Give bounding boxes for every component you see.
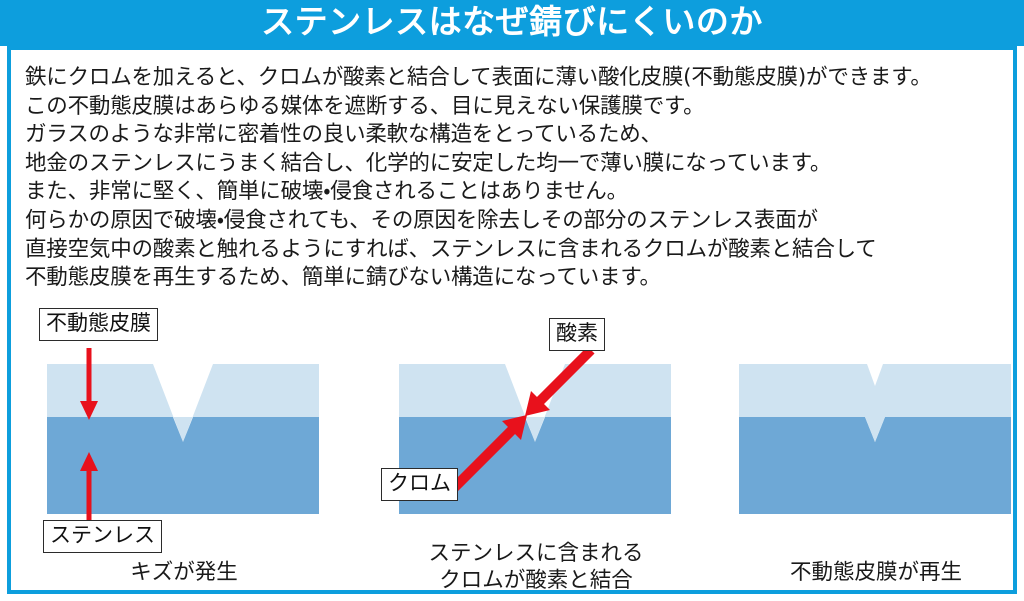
infographic-page: ステンレスはなぜ錆びにくいのか 鉄にクロムを加えると、クロムが酸素と結合して表面… xyxy=(0,0,1024,601)
body-line-2: この不動態皮膜はあらゆる媒体を遮断する、目に見えない保護膜です。 xyxy=(25,93,1005,122)
label-stainless-steel-text: ステンレス xyxy=(50,523,155,547)
body-line-7: 直接空気中の酸素と触れるようにすれば、ステンレスに含まれるクロムが酸素と結合して xyxy=(25,236,1005,265)
material-cross-section-regenerated xyxy=(739,364,1011,514)
body-line-4: 地金のステンレスにうまく結合し、化学的に安定した均一で薄い膜になっています。 xyxy=(25,150,1005,179)
body-line-8: 不動態皮膜を再生するため、簡単に錆びない構造になっています。 xyxy=(25,264,1005,293)
body-line-3: ガラスのような非常に密着性の良い柔軟な構造をとっているため、 xyxy=(25,121,1005,150)
label-stainless-steel: ステンレス xyxy=(43,520,162,553)
panel-scratch: 不動態皮膜 ステンレス キズが発生 xyxy=(29,308,339,594)
body-line-5: また、非常に堅く、簡単に破壊・侵食されることはありません。 xyxy=(25,178,1005,207)
content-frame: 鉄にクロムを加えると、クロムが酸素と結合して表面に薄い酸化皮膜(不動態皮膜)がで… xyxy=(7,46,1017,594)
caption-bonding: ステンレスに含まれる クロムが酸素と結合 xyxy=(381,540,691,594)
material-block-regenerated xyxy=(739,364,1011,514)
label-passive-film-text: 不動態皮膜 xyxy=(46,311,151,335)
panel-bonding: 酸素 クロム ステンレスに含まれる クロムが酸素と結合 xyxy=(381,308,691,594)
material-block-scratch xyxy=(47,364,319,514)
caption-regenerated: 不動態皮膜が再生 xyxy=(721,559,1024,586)
caption-bonding-line-2: クロムが酸素と結合 xyxy=(439,568,633,593)
panel-regenerated: 不動態皮膜が再生 xyxy=(721,308,1024,594)
caption-scratch: キズが発生 xyxy=(29,559,339,586)
label-chromium-text: クロム xyxy=(388,471,451,495)
body-paragraph: 鉄にクロムを加えると、クロムが酸素と結合して表面に薄い酸化皮膜(不動態皮膜)がで… xyxy=(25,64,1005,293)
material-cross-section-scratch xyxy=(47,364,319,514)
process-diagram: 不動態皮膜 ステンレス キズが発生 xyxy=(11,308,1013,594)
caption-regenerated-line-1: 不動態皮膜が再生 xyxy=(790,560,962,585)
label-passive-film: 不動態皮膜 xyxy=(39,308,158,341)
caption-scratch-line-1: キズが発生 xyxy=(130,560,238,585)
label-oxygen-text: 酸素 xyxy=(556,321,598,345)
label-chromium: クロム xyxy=(381,468,458,501)
page-title: ステンレスはなぜ錆びにくいのか xyxy=(0,0,1024,46)
caption-bonding-line-1: ステンレスに含まれる xyxy=(428,541,643,566)
body-line-6: 何らかの原因で破壊・侵食されても、その原因を除去しその部分のステンレス表面が xyxy=(25,207,1005,236)
label-oxygen: 酸素 xyxy=(549,318,605,351)
body-line-1: 鉄にクロムを加えると、クロムが酸素と結合して表面に薄い酸化皮膜(不動態皮膜)がで… xyxy=(25,64,1005,93)
